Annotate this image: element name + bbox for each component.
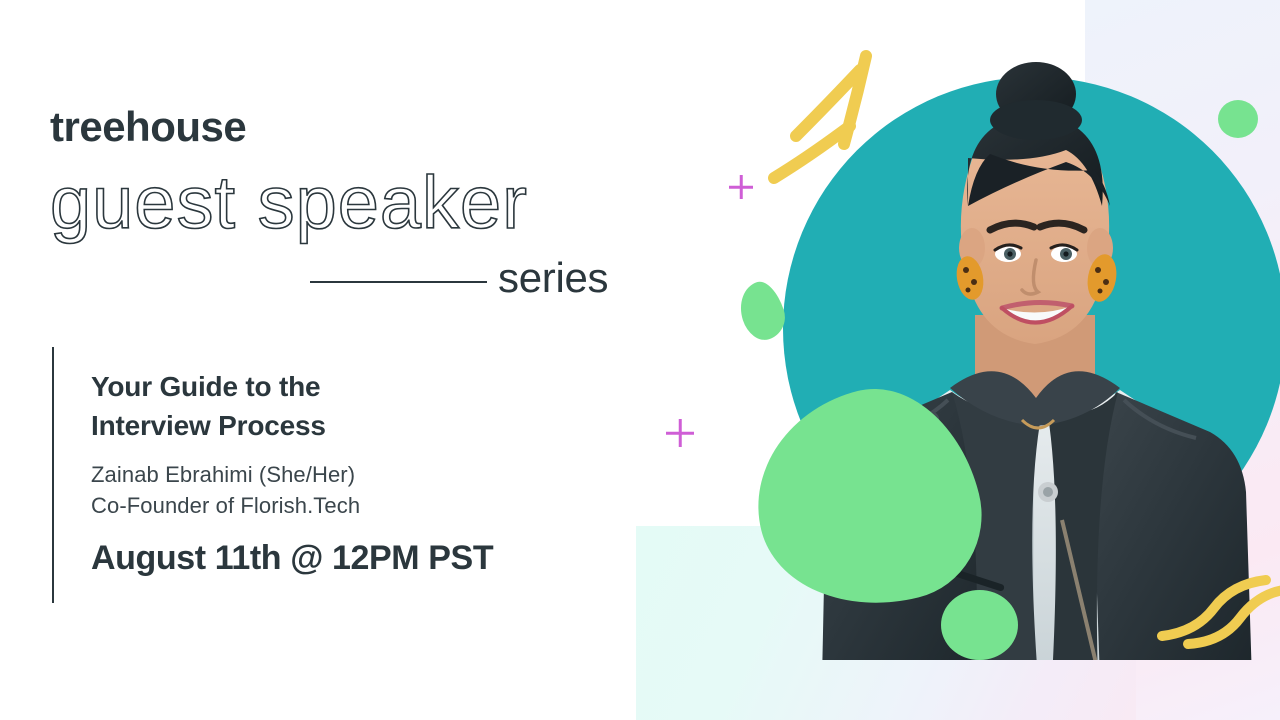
green-circle-bottom — [941, 590, 1018, 660]
guest-speaker-headline-text: guest speaker — [50, 161, 528, 244]
speaker-name: Zainab Ebrahimi (She/Her) — [91, 459, 631, 490]
event-datetime: August 11th @ 12PM PST — [91, 540, 631, 577]
speaker-role: Co-Founder of Florish.Tech — [91, 490, 631, 521]
promo-slide: treehouse guest speaker series Your Guid… — [0, 0, 1280, 720]
green-circle-top-right — [1218, 100, 1258, 138]
talk-title-line-1: Your Guide to the — [91, 371, 320, 402]
talk-title: Your Guide to the Interview Process — [91, 368, 631, 445]
brand-wordmark: treehouse — [50, 106, 246, 148]
detail-accent-rule — [52, 347, 54, 603]
yellow-squiggle-icon — [1140, 570, 1280, 720]
magenta-plus-icon-middle — [666, 419, 694, 447]
event-detail-block: Your Guide to the Interview Process Zain… — [91, 368, 631, 577]
series-label: series — [498, 257, 608, 299]
guest-speaker-headline: guest speaker — [40, 160, 660, 250]
series-divider-rule — [310, 281, 487, 283]
yellow-sparkle-icon — [740, 30, 940, 210]
talk-title-line-2: Interview Process — [91, 407, 631, 446]
